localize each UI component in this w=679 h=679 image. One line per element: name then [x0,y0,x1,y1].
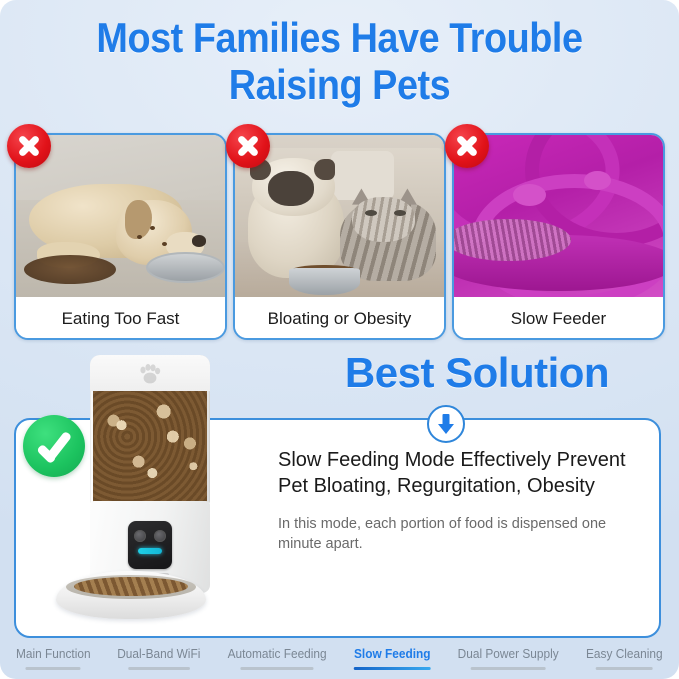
problem-card-caption: Bloating or Obesity [235,299,444,338]
tab-label: Easy Cleaning [586,647,663,661]
page-title: Most Families Have Trouble Raising Pets [34,14,645,108]
tab-label: Slow Feeding [354,647,431,661]
check-circle-icon [23,415,85,477]
product-image-pet-feeder [56,355,246,620]
solution-title: Slow Feeding Mode Effectively Prevent Pe… [278,447,650,500]
photo-purple-slow-feeder-bowl [454,135,663,297]
arrow-down-circle-icon [427,405,465,443]
tab-dual-band-wifi[interactable]: Dual-Band WiFi [117,647,200,670]
product-infographic: Most Families Have Trouble Raising Pets … [0,0,679,679]
paw-button-right-icon[interactable] [154,530,166,542]
problem-card-slow-feeder[interactable]: Slow Feeder [452,133,665,340]
problem-card-caption: Slow Feeder [454,299,663,338]
page-title-line-1: Most Families Have Trouble [34,14,645,61]
problem-card-caption: Eating Too Fast [16,299,225,338]
x-mark-icon [445,124,489,168]
tab-easy-cleaning[interactable]: Easy Cleaning [586,647,663,670]
feeder-hopper [90,355,210,505]
tab-label: Automatic Feeding [228,647,327,661]
tab-underline [241,667,314,670]
tab-slow-feeding[interactable]: Slow Feeding [354,647,431,670]
tab-label: Dual Power Supply [458,647,559,661]
x-mark-icon [226,124,270,168]
solution-heading: Best Solution [282,352,672,394]
feature-tab-bar: Main Function Dual-Band WiFi Automatic F… [0,638,679,679]
brand-paw-logo-icon [137,363,163,387]
paw-button-left-icon[interactable] [134,530,146,542]
problem-card-eating-too-fast[interactable]: Eating Too Fast [14,133,227,340]
tab-label: Main Function [16,647,91,661]
tab-automatic-feeding[interactable]: Automatic Feeding [228,647,327,670]
photo-overweight-pug-and-cat [235,135,444,297]
tab-dual-power-supply[interactable]: Dual Power Supply [458,647,559,670]
feeder-control-panel[interactable] [128,521,172,569]
tab-underline [471,667,546,670]
photo-dog-eating-fast [16,135,225,297]
solution-text-block: Slow Feeding Mode Effectively Prevent Pe… [278,447,650,555]
tab-underline [596,667,653,670]
status-led-indicator [138,548,162,554]
solution-subtitle: In this mode, each portion of food is di… [278,514,650,555]
tab-underline [26,667,81,670]
tab-underline [128,667,190,670]
page-title-line-2: Raising Pets [34,61,645,108]
tab-underline-active [354,667,431,670]
problem-card-bloating-or-obesity[interactable]: Bloating or Obesity [233,133,446,340]
tab-main-function[interactable]: Main Function [16,647,91,670]
x-mark-icon [7,124,51,168]
problem-card-list: Eating Too Fast Bloating or [14,133,665,336]
tab-label: Dual-Band WiFi [117,647,200,661]
